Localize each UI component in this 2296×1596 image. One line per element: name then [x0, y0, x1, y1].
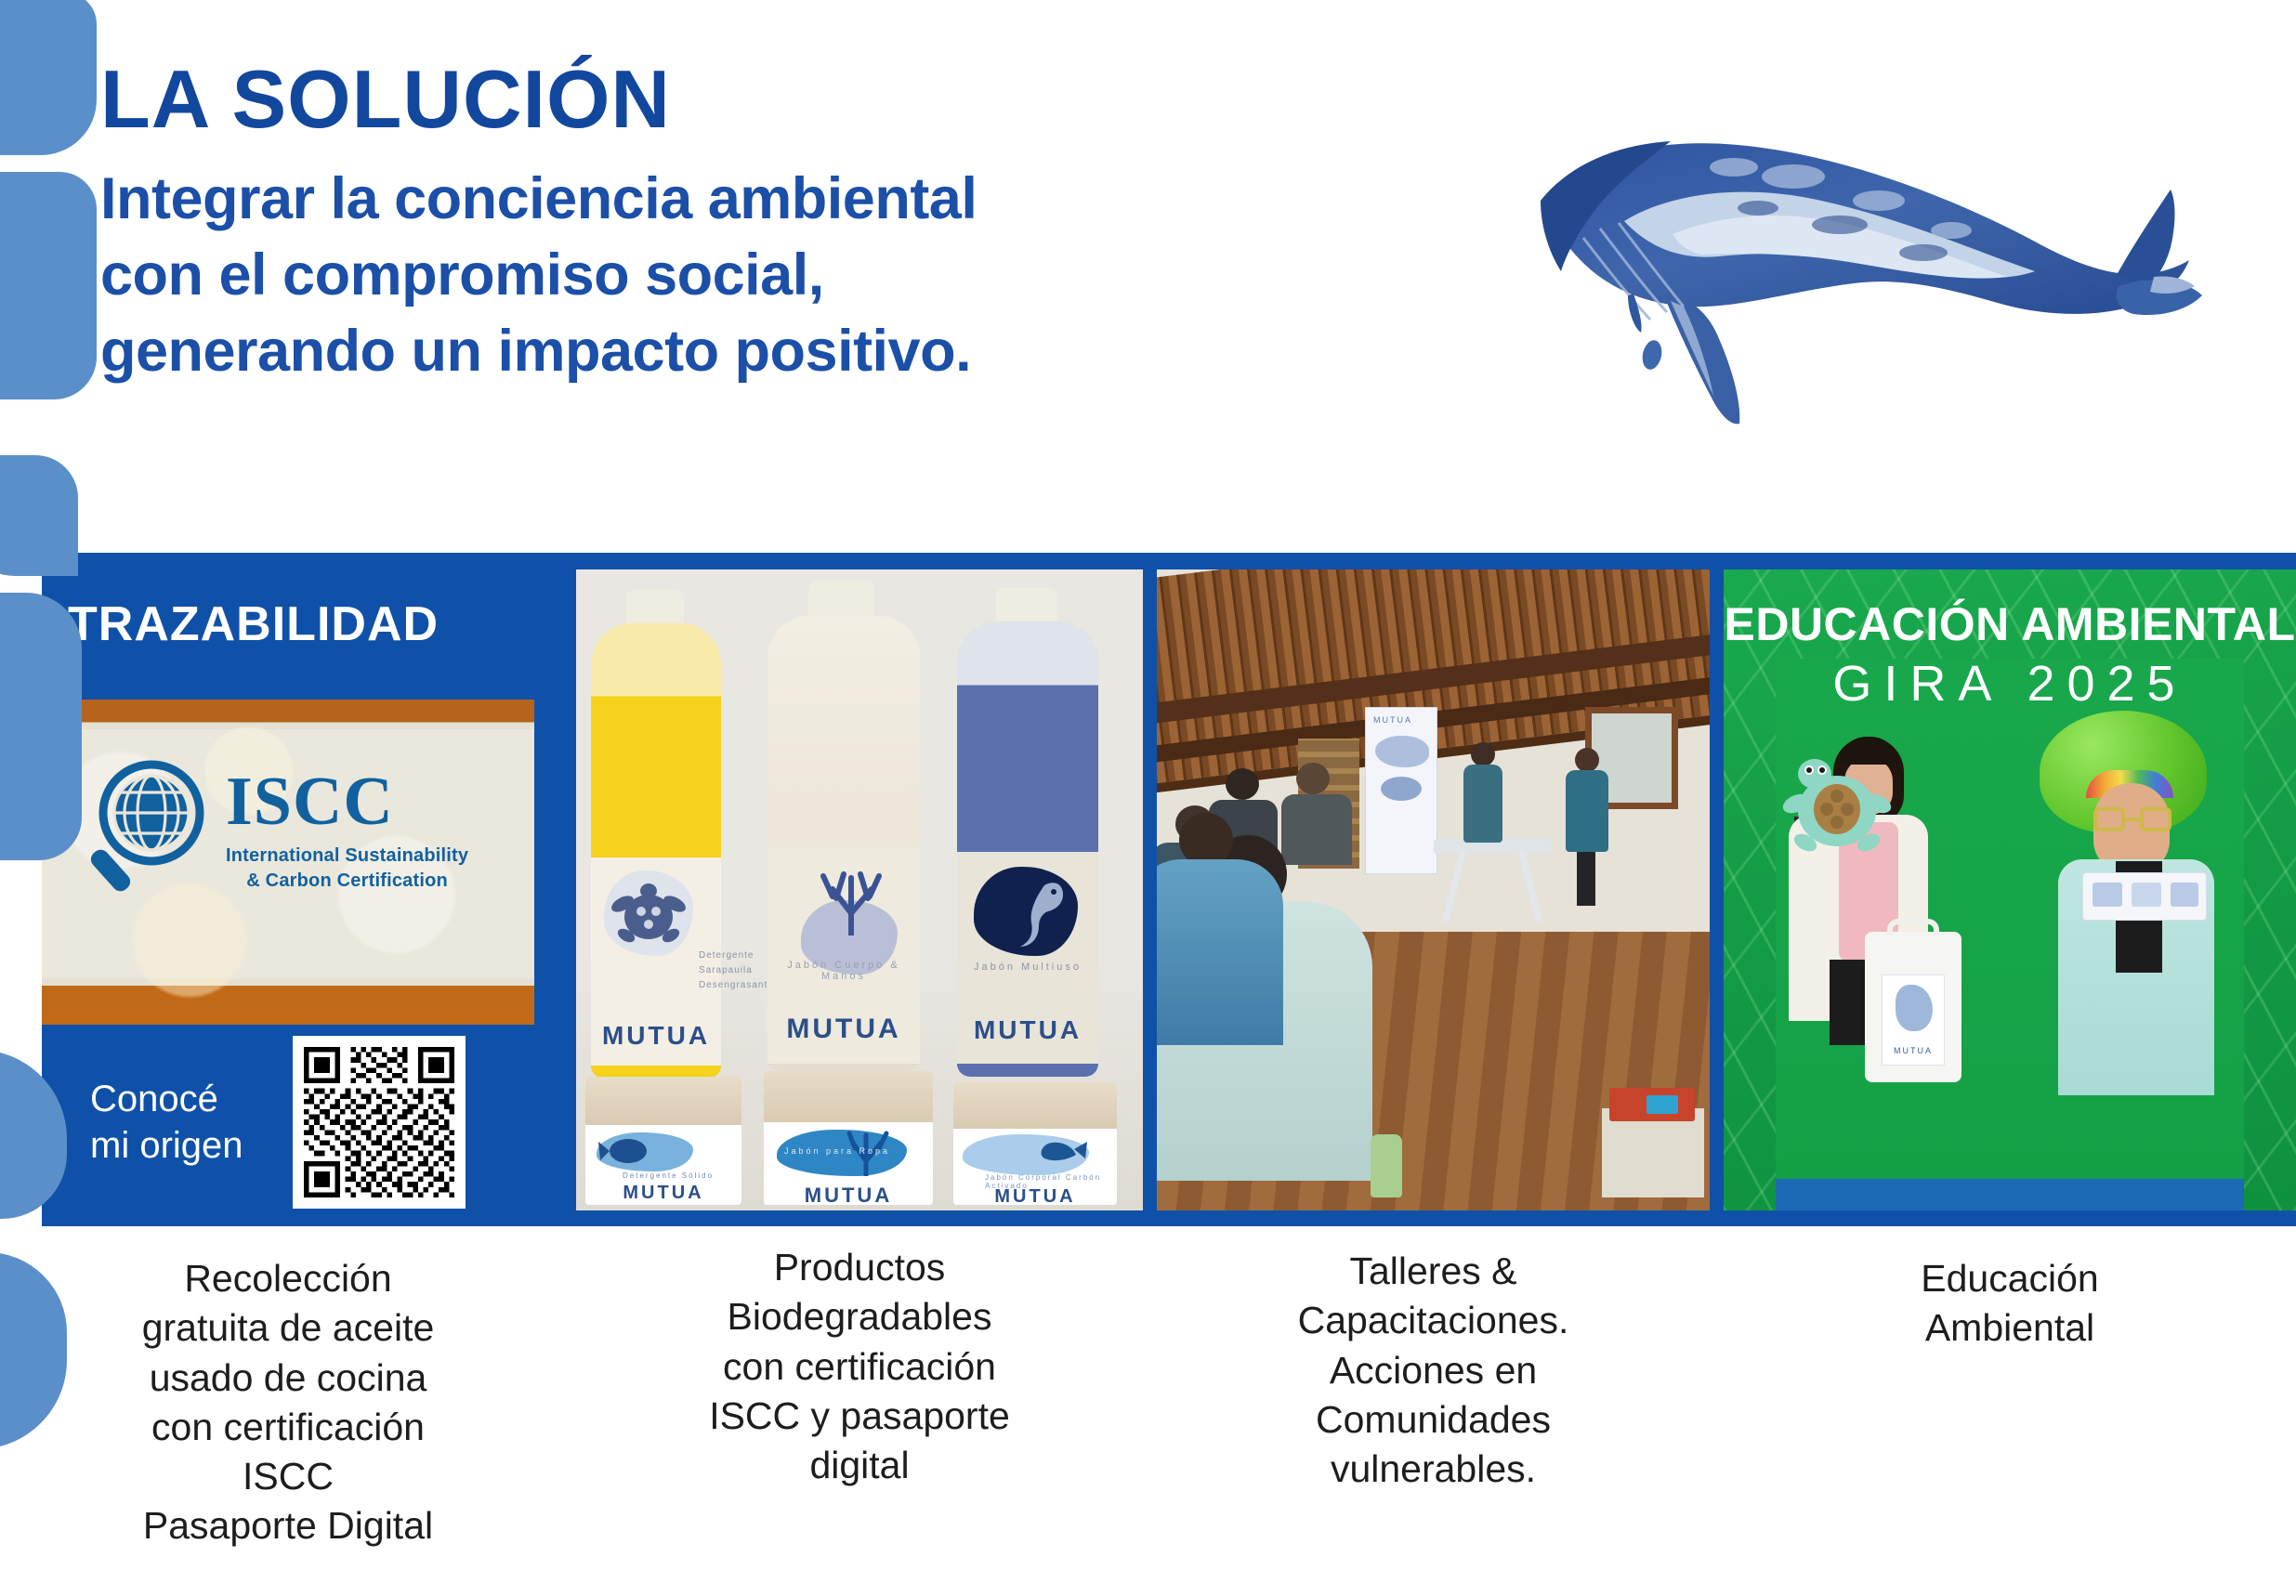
iscc-text-block: ISCC International Sustainability & Carb…: [226, 767, 468, 894]
brand-mark: MUTUA: [957, 1015, 1098, 1045]
traceability-label: TRAZABILIDAD: [42, 569, 534, 679]
caption-workshops: Talleres & Capacitaciones. Acciones en C…: [1157, 1247, 1710, 1494]
brand-mark: MUTUA: [768, 1014, 920, 1045]
brand-mark: MUTUA: [591, 1021, 721, 1051]
soap-packages: [2082, 872, 2207, 921]
brand-mark: MUTUA: [764, 1184, 933, 1205]
qr-caption-line-1: Conocé: [90, 1076, 276, 1122]
product-bottles-photo: Detergente Sarapauila Desengrasante MUTU…: [576, 569, 1143, 1210]
soap-bar: [764, 1071, 933, 1122]
bottle-detergent: Detergente Sarapauila Desengrasante MUTU…: [591, 623, 721, 1079]
jerrycan-product: MUTUA: [1865, 932, 1961, 1082]
glasses-icon: [2093, 807, 2171, 833]
panel-education: EDUCACIÓN AMBIENTAL GIRA 2025: [1724, 569, 2296, 1210]
soap-jar-solid-detergent: Detergente Sólido MUTUA: [585, 1077, 741, 1205]
panel-traceability: TRAZABILIDAD ISCC: [42, 569, 534, 1210]
education-subtitle: GIRA 2025: [1724, 655, 2296, 713]
fish-icon: [597, 1132, 693, 1171]
qr-block: Conocé mi origen: [42, 1034, 534, 1210]
product-item: [1647, 1095, 1678, 1114]
bottle-soap: Jabón Cuerpo & Manos MUTUA: [768, 616, 920, 1071]
bottle-product-name: Jabón Cuerpo & Manos: [768, 960, 920, 982]
caption-products: Productos Biodegradables con certificaci…: [576, 1243, 1143, 1490]
whale-icon: [963, 1134, 1089, 1175]
bottle-label: Detergente Sarapauila Desengrasante MUTU…: [591, 857, 721, 1066]
education-title: EDUCACIÓN AMBIENTAL: [1724, 597, 2296, 651]
education-photo: EDUCACIÓN AMBIENTAL GIRA 2025: [1724, 569, 2296, 1210]
jar-product-name: Detergente Sólido: [623, 1171, 714, 1180]
audience-person-foreground: [1157, 813, 1283, 1045]
iscc-tagline-line-2: & Carbon Certification: [226, 869, 468, 894]
jar-label: Jabón para Ropa MUTUA: [764, 1122, 933, 1205]
banner-brand: MUTUA: [1373, 715, 1412, 725]
soap-bar: [953, 1082, 1117, 1129]
brand-mark: MUTUA: [585, 1183, 741, 1204]
brand-mark: MUTUA: [953, 1186, 1117, 1205]
qr-code-icon: [304, 1047, 454, 1197]
panel-products: Detergente Sarapauila Desengrasante MUTU…: [576, 569, 1143, 1210]
subtitle-line-1: Integrar la conciencia ambiental: [100, 162, 977, 238]
panels-band: TRAZABILIDAD ISCC: [42, 553, 2296, 1226]
qr-caption-line-2: mi origen: [90, 1122, 276, 1169]
qr-code[interactable]: [293, 1036, 466, 1209]
soap-bar: [585, 1077, 741, 1125]
soap-jar-body: Jabón Corporal Carbón Activado MUTUA: [953, 1082, 1117, 1205]
jerrycan-label: MUTUA: [1882, 975, 1945, 1066]
turtle-puppet-icon: [1781, 752, 1893, 866]
title-block: LA SOLUCIÓN Integrar la conciencia ambie…: [100, 58, 977, 389]
presenter-person: [1566, 748, 1608, 906]
caption-education: Educación Ambiental: [1724, 1254, 2296, 1354]
slide-header: LA SOLUCIÓN Integrar la conciencia ambie…: [0, 0, 2296, 553]
subtitle: Integrar la conciencia ambiental con el …: [100, 162, 977, 390]
workshop-photo: MUTUA: [1157, 569, 1710, 1210]
qr-caption: Conocé mi origen: [90, 1076, 276, 1169]
whale-illustration-icon: [1515, 111, 2202, 427]
iscc-tagline-line-1: International Sustainability: [226, 844, 468, 869]
soap-jar-laundry: Jabón para Ropa MUTUA: [764, 1071, 933, 1205]
subtitle-line-2: con el compromiso social,: [100, 238, 977, 314]
bottle-multipurpose: Jabón Multiuso MUTUA: [957, 621, 1098, 1077]
globe-magnifier-icon: [90, 757, 213, 898]
panel-workshops: MUTUA: [1157, 569, 1710, 1210]
jar-product-name: Jabón para Ropa: [784, 1146, 890, 1156]
bottle-label: Jabón Multiuso MUTUA: [957, 852, 1098, 1064]
bottle-product-name: Jabón Multiuso: [957, 962, 1098, 973]
page-title: LA SOLUCIÓN: [100, 58, 977, 141]
sea-lion-icon: [974, 867, 1078, 956]
water-bottle: [1371, 1134, 1402, 1197]
jerrycan-handle: [1887, 919, 1939, 935]
mutua-banner: MUTUA: [1365, 707, 1437, 874]
subtitle-line-3: generando un impacto positivo.: [100, 314, 977, 390]
jar-label: Jabón Corporal Carbón Activado MUTUA: [953, 1129, 1117, 1205]
caption-collection: Recolección gratuita de aceite usado de …: [42, 1254, 534, 1551]
floor-strip: [1776, 1179, 2244, 1210]
captions-row: Recolección gratuita de aceite usado de …: [42, 1237, 2296, 1596]
presenter-person: [1463, 742, 1502, 843]
iscc-certification-card: ISCC International Sustainability & Carb…: [42, 700, 534, 1025]
iscc-logo: ISCC International Sustainability & Carb…: [90, 757, 468, 898]
jar-label: Detergente Sólido MUTUA: [585, 1125, 741, 1205]
jerrycan-brand: MUTUA: [1883, 1046, 1944, 1055]
product-display-box: [1602, 1108, 1704, 1197]
bottle-label: Jabón Cuerpo & Manos MUTUA: [768, 848, 920, 1064]
sea-turtle-icon: [604, 870, 693, 956]
iscc-tagline: International Sustainability & Carbon Ce…: [226, 844, 468, 894]
iscc-name: ISCC: [226, 767, 468, 836]
